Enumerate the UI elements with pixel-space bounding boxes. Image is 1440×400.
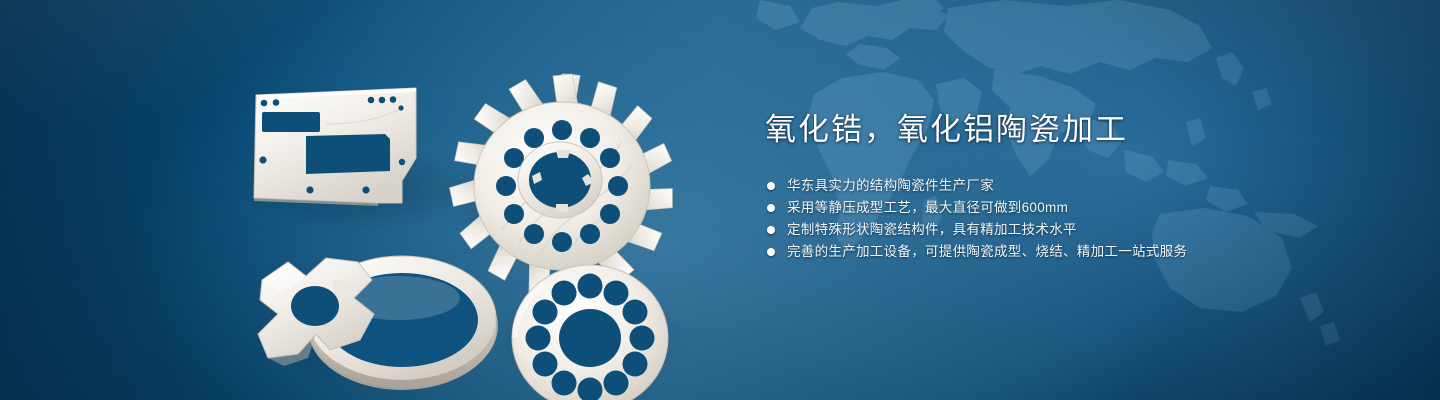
banner-copy-block: 氧化锆，氧化铝陶瓷加工 华东具实力的结构陶瓷件生产厂家 采用等静压成型工艺，最大… — [765, 108, 1385, 266]
bullet-dot-icon — [767, 248, 775, 256]
ceramic-mounting-plate-shape — [254, 88, 416, 206]
feature-bullet-list: 华东具实力的结构陶瓷件生产厂家 采用等静压成型工艺，最大直径可做到600mm 定… — [767, 178, 1385, 259]
list-item: 采用等静压成型工艺，最大直径可做到600mm — [767, 200, 1385, 215]
bullet-text: 采用等静压成型工艺，最大直径可做到600mm — [787, 200, 1068, 215]
bullet-text: 定制特殊形状陶瓷结构件，具有精加工技术水平 — [787, 222, 1077, 237]
bullet-dot-icon — [767, 204, 775, 212]
list-item: 定制特殊形状陶瓷结构件，具有精加工技术水平 — [767, 222, 1385, 237]
list-item: 华东具实力的结构陶瓷件生产厂家 — [767, 178, 1385, 193]
ceramic-impeller-disc-shape — [449, 74, 675, 299]
ceramic-processing-banner: 氧化锆，氧化铝陶瓷加工 华东具实力的结构陶瓷件生产厂家 采用等静压成型工艺，最大… — [0, 0, 1440, 400]
list-item: 完善的生产加工设备，可提供陶瓷成型、烧结、精加工一站式服务 — [767, 244, 1385, 259]
page-title: 氧化锆，氧化铝陶瓷加工 — [765, 108, 1385, 152]
bullet-text: 完善的生产加工设备，可提供陶瓷成型、烧结、精加工一站式服务 — [787, 244, 1187, 259]
ceramic-perforated-disc-shape — [512, 265, 668, 400]
bullet-dot-icon — [767, 226, 775, 234]
bullet-dot-icon — [767, 182, 775, 190]
ceramic-products-image — [230, 38, 710, 383]
bullet-text: 华东具实力的结构陶瓷件生产厂家 — [787, 178, 994, 193]
